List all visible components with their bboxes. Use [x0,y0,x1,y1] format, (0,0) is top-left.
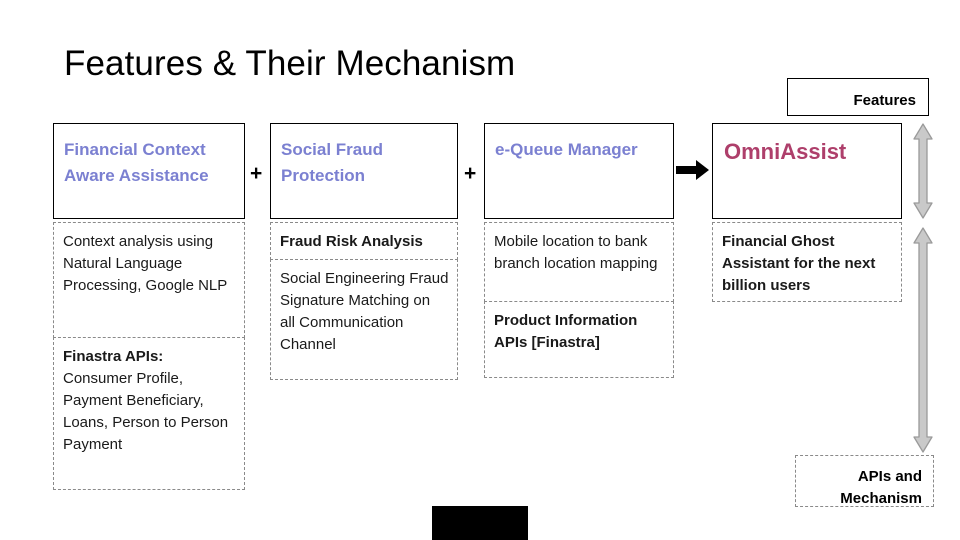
result-body-text: Financial Ghost Assistant for the next b… [713,223,901,305]
feature-card-header-social-fraud-protection[interactable]: Social Fraud Protection [270,123,458,219]
feature-detail-mechanism-1[interactable]: Context analysis using Natural Language … [53,222,245,338]
right-arrow-icon [676,158,710,187]
slide-canvas: Features & Their Mechanism Financial Con… [0,0,960,540]
feature-detail-mechanism-2[interactable]: Fraud Risk Analysis [270,222,458,260]
features-range-double-arrow-icon [911,122,935,225]
result-header-label: OmniAssist [713,124,901,167]
feature-detail-text: Social Engineering Fraud Signature Match… [271,260,457,364]
feature-detail-body: Consumer Profile, Payment Beneficiary, L… [63,370,228,453]
feature-header-label: Social Fraud Protection [271,124,457,189]
feature-header-label: e-Queue Manager [485,124,673,163]
feature-detail-apis-1[interactable]: Finastra APIs: Consumer Profile, Payment… [53,337,245,490]
apis-annotation-label: APIs and Mechanism [796,456,933,510]
feature-detail-text: Context analysis using Natural Language … [54,223,244,305]
features-annotation-box[interactable]: Features [787,78,929,116]
apis-annotation-box[interactable]: APIs and Mechanism [795,455,934,507]
feature-detail-apis-2[interactable]: Social Engineering Fraud Signature Match… [270,259,458,380]
feature-detail-lead: Finastra APIs: [63,348,163,365]
plus-separator-2: + [464,163,476,184]
feature-card-header-financial-context-aware-assistance[interactable]: Financial Context Aware Assistance [53,123,245,219]
feature-detail-text: Fraud Risk Analysis [271,223,457,261]
feature-detail-apis-3[interactable]: Product Information APIs [Finastra] [484,301,674,378]
feature-detail-text: Mobile location to bank branch location … [485,223,673,283]
result-card-header-omniassist[interactable]: OmniAssist [712,123,902,219]
bottom-black-bar [432,506,528,540]
plus-separator-1: + [250,163,262,184]
feature-header-label: Financial Context Aware Assistance [54,124,244,189]
feature-card-header-e-queue-manager[interactable]: e-Queue Manager [484,123,674,219]
features-annotation-label: Features [788,79,928,111]
page-title: Features & Their Mechanism [64,42,515,86]
feature-detail-mechanism-3[interactable]: Mobile location to bank branch location … [484,222,674,302]
feature-detail-text: Finastra APIs: Consumer Profile, Payment… [54,338,244,464]
feature-detail-text: Product Information APIs [Finastra] [485,302,673,362]
apis-range-double-arrow-icon [911,226,935,459]
result-card-body-omniassist[interactable]: Financial Ghost Assistant for the next b… [712,222,902,302]
